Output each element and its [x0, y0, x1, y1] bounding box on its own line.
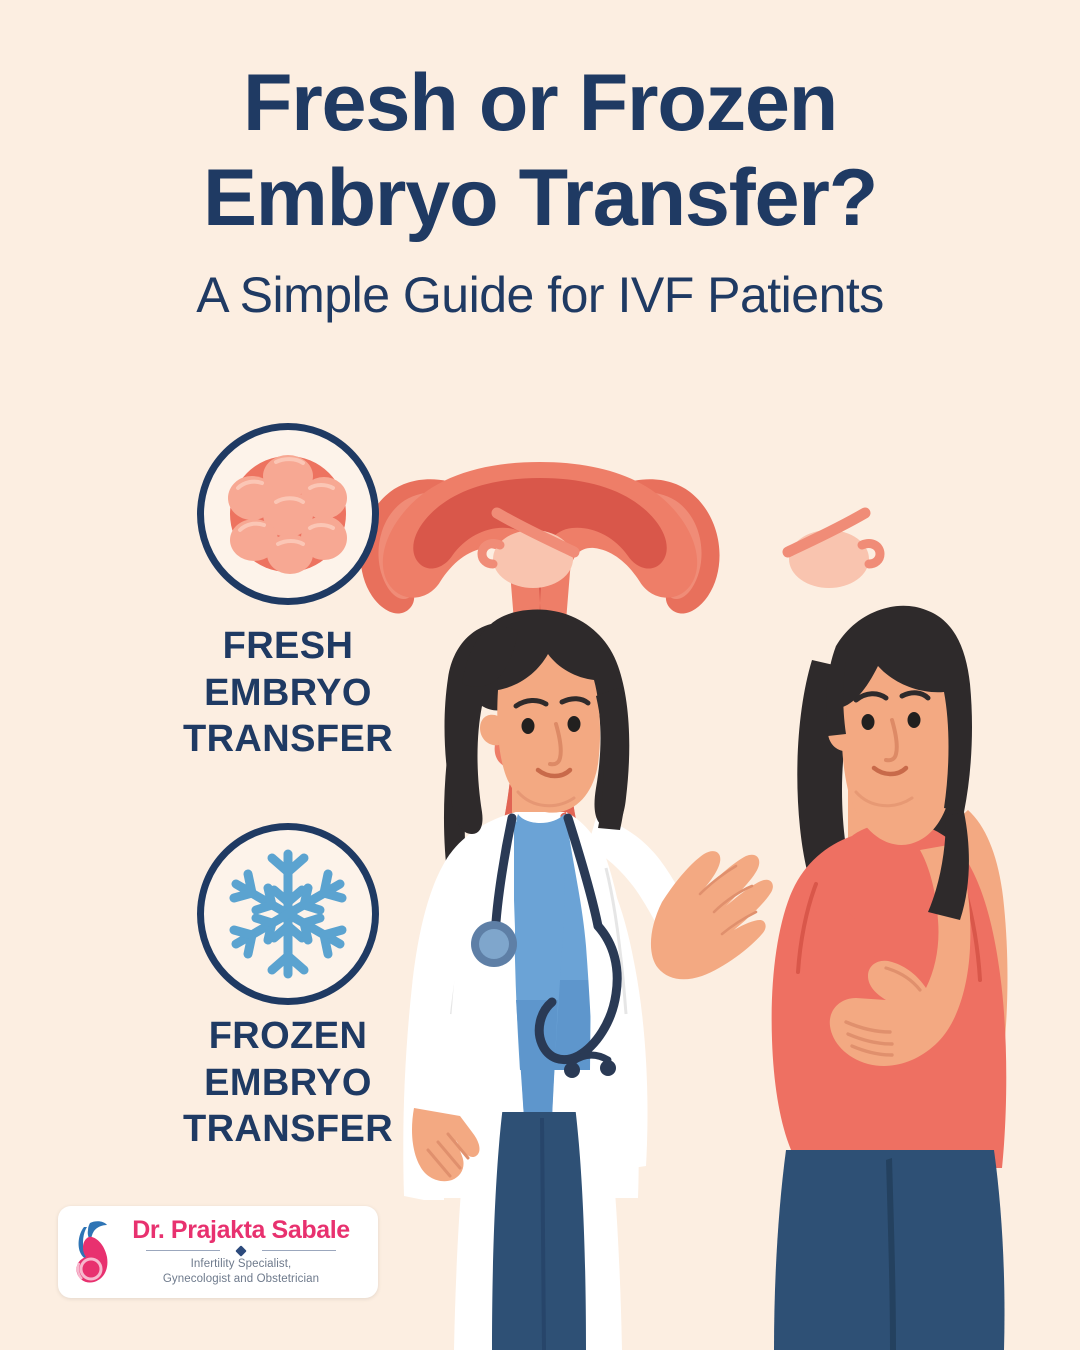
frozen-label-line-3: TRANSFER	[138, 1106, 438, 1153]
diamond-icon	[235, 1246, 246, 1257]
poster-canvas: Fresh or Frozen Embryo Transfer? A Simpl…	[0, 0, 1080, 1350]
clinic-doctor-name: Dr. Prajakta Sabale	[132, 1218, 350, 1244]
poster-subtitle: A Simple Guide for IVF Patients	[0, 268, 1080, 323]
fresh-transfer-label: FRESH EMBRYO TRANSFER	[138, 623, 438, 763]
fresh-label-line-2: EMBRYO	[138, 670, 438, 717]
embryo-icon	[197, 423, 379, 605]
fresh-label-line-1: FRESH	[138, 623, 438, 670]
frozen-transfer-label: FROZEN EMBRYO TRANSFER	[138, 1013, 438, 1153]
pregnant-woman-logo-icon	[66, 1217, 112, 1287]
patient-illustration	[772, 606, 1008, 1350]
clinic-tagline-line-2: Gynecologist and Obstetrician	[163, 1272, 319, 1286]
frozen-label-line-1: FROZEN	[138, 1013, 438, 1060]
snowflake-icon	[197, 823, 379, 1005]
doctor-illustration	[403, 609, 773, 1350]
frozen-label-line-2: EMBRYO	[138, 1060, 438, 1107]
poster-title-line-2: Embryo Transfer?	[0, 151, 1080, 246]
heading-block: Fresh or Frozen Embryo Transfer? A Simpl…	[0, 56, 1080, 323]
logo-divider	[146, 1246, 336, 1255]
poster-title-line-1: Fresh or Frozen	[0, 56, 1080, 151]
clinic-tagline-line-1: Infertility Specialist,	[191, 1257, 292, 1271]
fresh-label-line-3: TRANSFER	[138, 716, 438, 763]
clinic-logo-card: Dr. Prajakta Sabale Infertility Speciali…	[58, 1206, 378, 1298]
